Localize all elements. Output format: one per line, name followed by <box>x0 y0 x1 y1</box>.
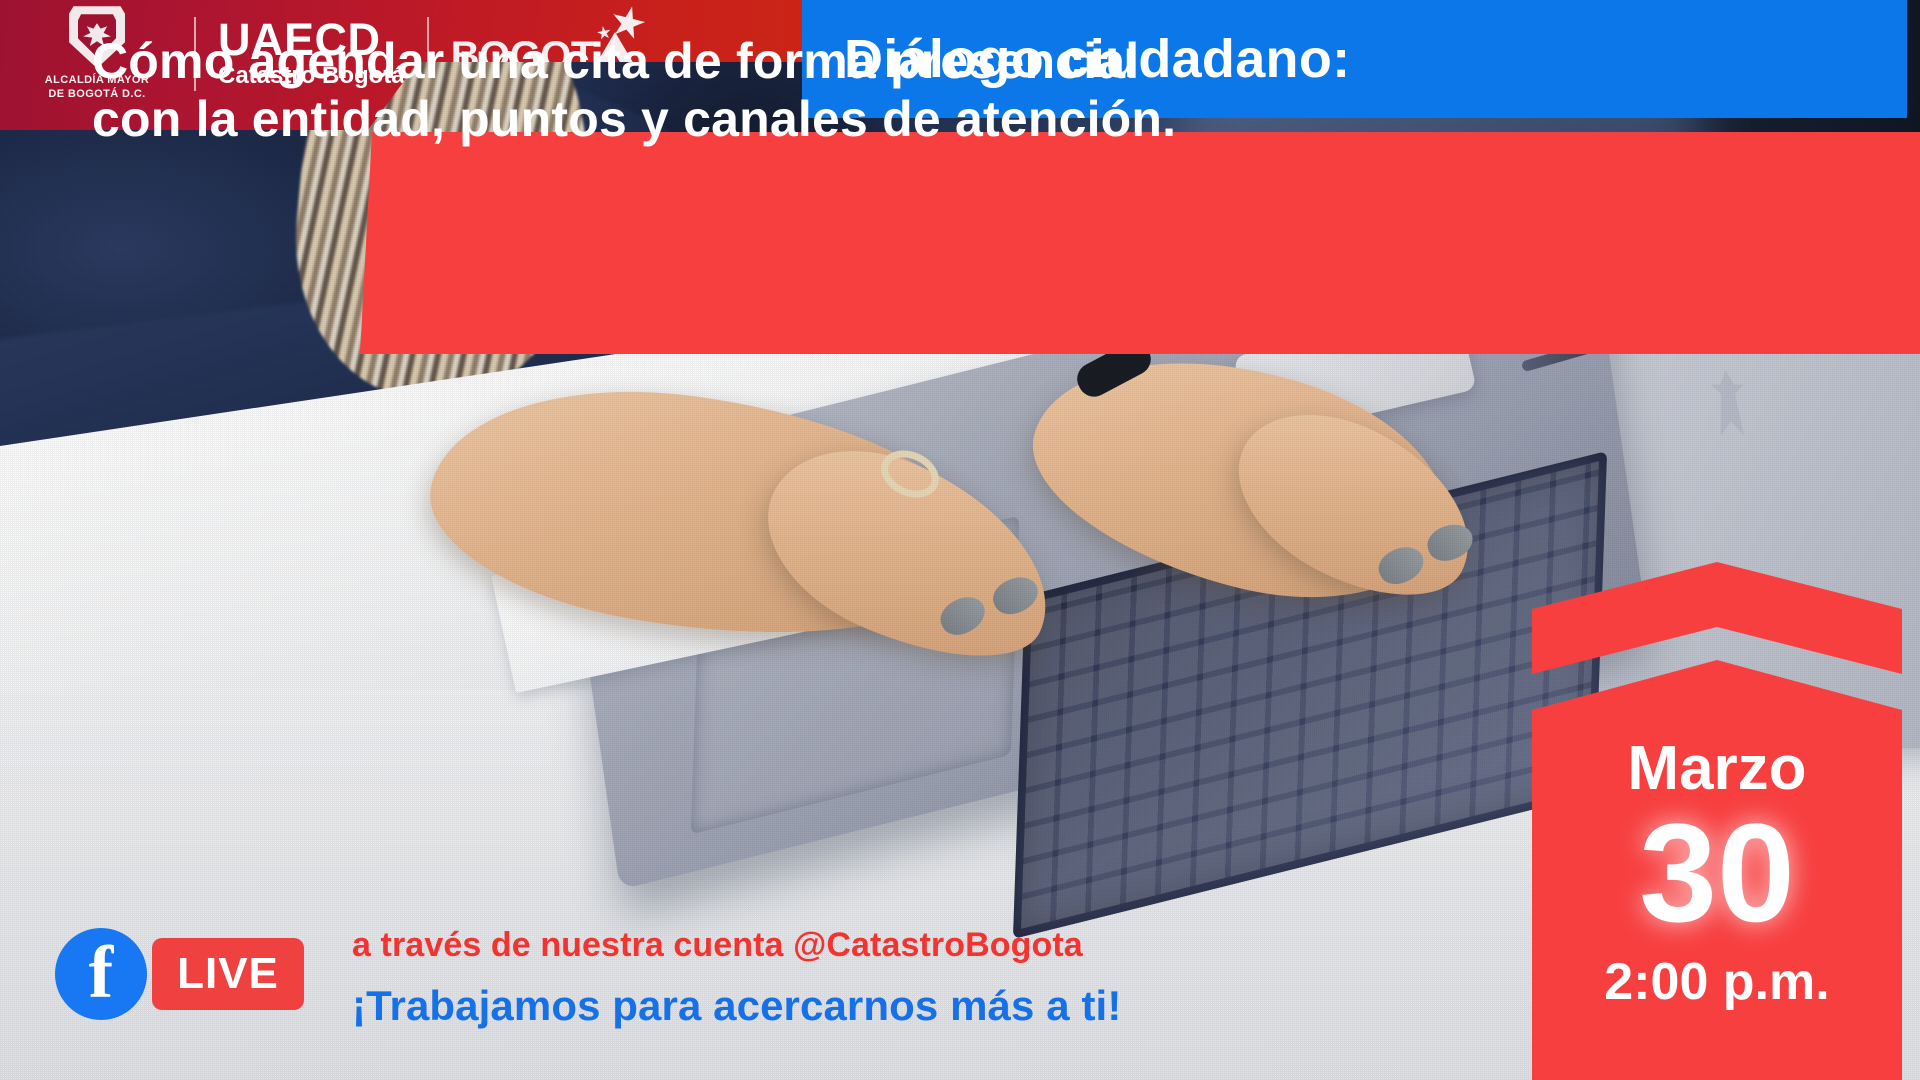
footer-slogan-line: ¡Trabajamos para acercarnos más a ti! <box>352 982 1121 1030</box>
date-badge: Marzo 30 2:00 p.m. <box>1532 660 1902 1080</box>
photo-fingernail <box>935 590 992 642</box>
live-badge: LIVE <box>152 938 304 1010</box>
facebook-icon[interactable] <box>55 928 147 1020</box>
badge-day: 30 <box>1639 806 1795 940</box>
footer-account-line: a través de nuestra cuenta @CatastroBogo… <box>352 926 1083 965</box>
promotional-poster: ALCALDÍA MAYOR DE BOGOTÁ D.C. UAECD Cata… <box>0 0 1920 1080</box>
headline-text-group: Cómo agendar una cita de forma presencia… <box>92 32 1176 148</box>
live-label: LIVE <box>177 949 279 999</box>
photo-fingernail <box>1373 540 1429 590</box>
photo-fingernail <box>988 571 1044 621</box>
headline-line-1: Cómo agendar una cita de forma presencia… <box>92 32 1176 90</box>
badge-month: Marzo <box>1627 738 1806 800</box>
headline-line-2: con la entidad, puntos y canales de aten… <box>92 90 1176 148</box>
badge-time: 2:00 p.m. <box>1604 956 1829 1008</box>
headline-block <box>360 132 1920 354</box>
